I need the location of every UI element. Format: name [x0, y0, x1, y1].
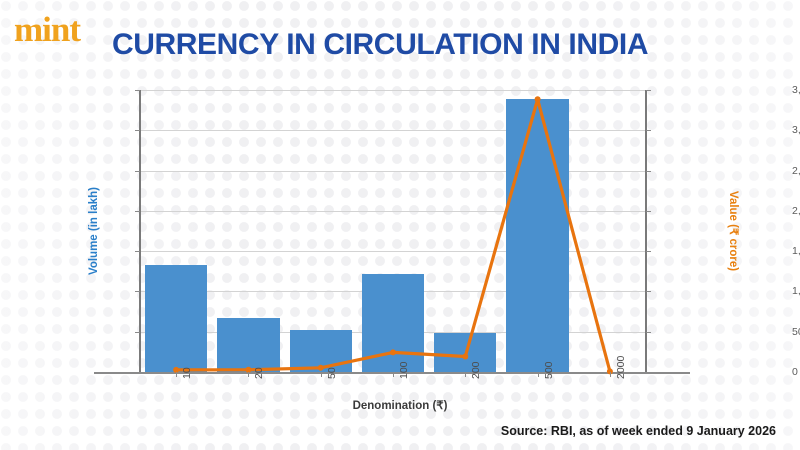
line-series-value	[94, 90, 690, 376]
x-axis-tick-label-10: 10	[181, 367, 193, 379]
y-axis-right-tick-label: 2,500,000	[792, 165, 800, 177]
x-axis-tick-mark	[248, 372, 249, 377]
x-axis-tick-label-100: 100	[398, 361, 410, 379]
line-marker-50	[318, 365, 324, 371]
line-marker-500	[535, 96, 541, 102]
x-axis-tick-label-500: 500	[543, 361, 555, 379]
x-axis-tick-label-200: 200	[470, 361, 482, 379]
page-title: CURRENCY IN CIRCULATION IN INDIA	[112, 28, 648, 62]
x-axis-tick-mark	[176, 372, 177, 377]
y-axis-right-tick-label: 3,000,000	[792, 124, 800, 136]
plot-area: 0100,000200,000300,000400,000500,000600,…	[140, 90, 646, 372]
x-axis-tick-label-50: 50	[326, 367, 338, 379]
y-axis-right-tick-label: 0	[792, 366, 800, 378]
source-note: Source: RBI, as of week ended 9 January …	[501, 424, 776, 438]
y-axis-right-title: Value (₹ crore)	[727, 191, 741, 271]
line-marker-100	[390, 349, 396, 355]
line-marker-200	[462, 354, 468, 360]
x-axis-tick-mark	[321, 372, 322, 377]
x-axis-tick-label-2000: 2000	[615, 356, 627, 379]
x-axis-tick-mark	[610, 372, 611, 377]
y-axis-right-tick-label: 2,000,000	[792, 205, 800, 217]
x-axis-tick-label-20: 20	[253, 367, 265, 379]
x-axis-tick-mark	[538, 372, 539, 377]
y-axis-right-tick-label: 500,000	[792, 326, 800, 338]
mint-logo: mint	[14, 12, 80, 47]
x-axis-tick-mark	[393, 372, 394, 377]
y-axis-right-tick-label: 1,500,000	[792, 245, 800, 257]
y-axis-right-tick-label: 3,500,000	[792, 84, 800, 96]
infographic-root: mint CURRENCY IN CIRCULATION IN INDIA 01…	[0, 0, 800, 450]
y-axis-right-tick-label: 1,000,000	[792, 285, 800, 297]
x-axis-tick-mark	[465, 372, 466, 377]
x-axis-title: Denomination (₹)	[0, 398, 800, 412]
